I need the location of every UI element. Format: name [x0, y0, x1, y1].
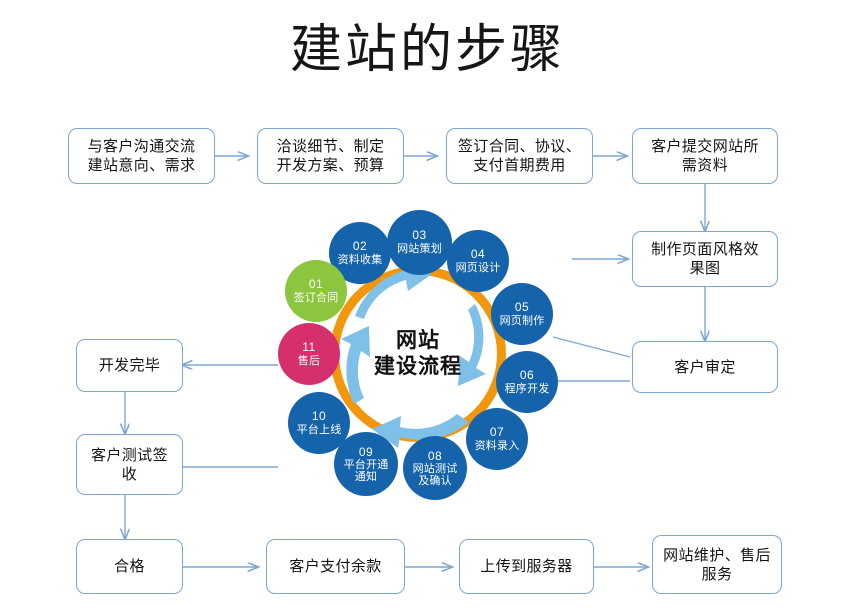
- wheel-step-04-label: 网页设计: [454, 262, 503, 275]
- box-page-style-line1: 制作页面风格效: [647, 240, 763, 259]
- wheel-step-10-num: 10: [312, 410, 326, 423]
- wheel-step-03[interactable]: 03 网站策划: [387, 210, 452, 275]
- wheel-step-09-label: 平台开通通知: [338, 459, 394, 483]
- box-contract-line1: 签订合同、协议、: [454, 137, 585, 156]
- box-pay-balance[interactable]: 客户支付余款: [266, 539, 405, 594]
- box-dev-done-line1: 开发完毕: [95, 356, 165, 375]
- wheel-center-line1: 网站: [374, 328, 462, 354]
- box-communicate[interactable]: 与客户沟通交流 建站意向、需求: [68, 128, 215, 184]
- box-contract[interactable]: 签订合同、协议、 支付首期费用: [446, 128, 593, 184]
- wheel-step-08-num: 08: [428, 450, 442, 462]
- wheel-step-04-num: 04: [471, 248, 485, 261]
- wheel-step-11[interactable]: 11 售后: [278, 323, 340, 385]
- box-pay-balance-line1: 客户支付余款: [285, 557, 385, 576]
- box-maintain-line1: 网站维护、售后: [659, 546, 775, 565]
- box-negotiate-line1: 洽谈细节、制定: [273, 137, 389, 156]
- box-communicate-line1: 与客户沟通交流: [84, 137, 200, 156]
- wheel-step-06[interactable]: 06 程序开发: [496, 351, 558, 413]
- box-review[interactable]: 客户审定: [632, 341, 778, 393]
- wheel-step-01-label: 签订合同: [292, 292, 341, 305]
- wheel-center-line2: 建设流程: [374, 354, 462, 380]
- wheel-step-07-label: 资料录入: [473, 440, 522, 453]
- box-client-test-line1: 客户测试签: [87, 446, 172, 465]
- wheel-step-02-label: 资料收集: [336, 254, 385, 267]
- wheel-step-05-num: 05: [515, 301, 529, 314]
- box-dev-done[interactable]: 开发完毕: [76, 339, 183, 392]
- wheel-step-09-num: 09: [359, 446, 373, 458]
- wheel-step-11-label: 售后: [296, 355, 322, 368]
- box-submit-data[interactable]: 客户提交网站所 需资料: [632, 128, 778, 184]
- wheel-step-03-label: 网站策划: [395, 243, 444, 256]
- wheel-step-06-label: 程序开发: [503, 383, 552, 396]
- wheel-step-06-num: 06: [520, 369, 534, 382]
- wheel-step-10-label: 平台上线: [295, 424, 344, 437]
- wheel-step-01-num: 01: [309, 278, 323, 291]
- line-diagonal-review: [553, 337, 630, 357]
- box-upload[interactable]: 上传到服务器: [459, 539, 594, 594]
- box-contract-line2: 支付首期费用: [454, 156, 585, 175]
- box-submit-data-line2: 需资料: [647, 156, 763, 175]
- page-title: 建站的步骤: [0, 22, 855, 80]
- wheel-step-07[interactable]: 07 资料录入: [466, 408, 528, 470]
- wheel-step-08-label: 网站测试及确认: [407, 463, 463, 487]
- box-maintain-line2: 服务: [659, 565, 775, 584]
- box-communicate-line2: 建站意向、需求: [84, 156, 200, 175]
- box-review-line1: 客户审定: [670, 358, 740, 377]
- box-maintain[interactable]: 网站维护、售后 服务: [652, 535, 782, 594]
- wheel-step-08[interactable]: 08 网站测试及确认: [403, 436, 467, 500]
- box-client-test-line2: 收: [87, 465, 172, 484]
- wheel-step-07-num: 07: [490, 426, 504, 439]
- wheel-step-04[interactable]: 04 网页设计: [447, 230, 509, 292]
- wheel-step-05[interactable]: 05 网页制作: [491, 283, 553, 345]
- box-qualified-line1: 合格: [110, 557, 149, 576]
- website-process-wheel: 02 资料收集 03 网站策划 04 网页设计 05 网页制作 06 程序开发 …: [272, 208, 564, 500]
- box-client-test[interactable]: 客户测试签 收: [76, 434, 183, 495]
- box-upload-line1: 上传到服务器: [476, 557, 576, 576]
- diagram-canvas: 建站的步骤: [0, 0, 855, 611]
- wheel-step-01[interactable]: 01 签订合同: [285, 260, 347, 322]
- box-negotiate[interactable]: 洽谈细节、制定 开发方案、预算: [257, 128, 404, 184]
- wheel-step-05-label: 网页制作: [498, 315, 547, 328]
- box-submit-data-line1: 客户提交网站所: [647, 137, 763, 156]
- box-qualified[interactable]: 合格: [76, 539, 183, 594]
- box-negotiate-line2: 开发方案、预算: [273, 156, 389, 175]
- wheel-center-label: 网站 建设流程: [374, 328, 462, 380]
- box-page-style[interactable]: 制作页面风格效 果图: [632, 231, 778, 287]
- wheel-step-02-num: 02: [353, 240, 367, 253]
- box-page-style-line2: 果图: [647, 259, 763, 278]
- wheel-step-03-num: 03: [412, 229, 426, 242]
- wheel-step-10[interactable]: 10 平台上线: [288, 392, 350, 454]
- wheel-step-11-num: 11: [302, 341, 315, 354]
